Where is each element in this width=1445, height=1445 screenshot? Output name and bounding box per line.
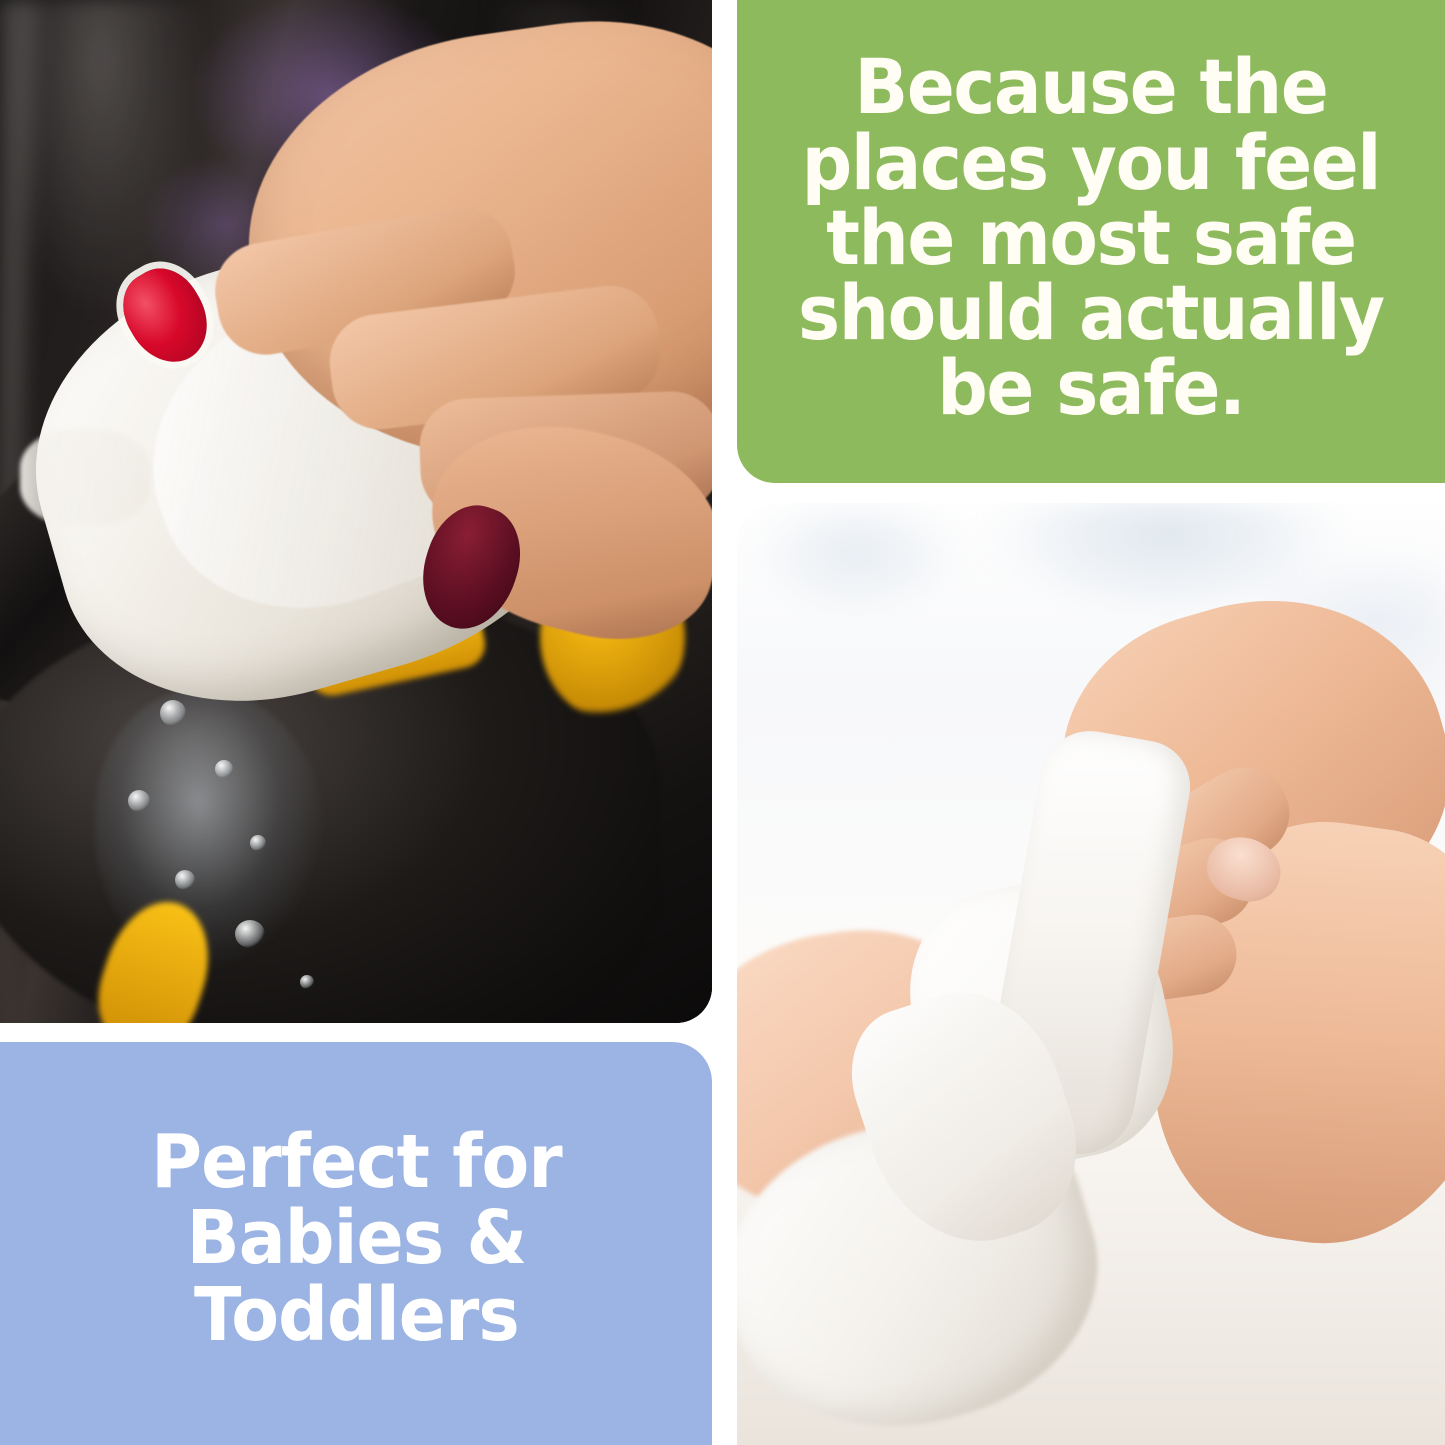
water-droplet	[128, 790, 150, 812]
cart-photo-scene	[0, 0, 712, 1023]
audience-line-3: Toddlers	[151, 1277, 562, 1353]
adult-wiping-baby-hand-photo	[737, 503, 1445, 1445]
water-droplet	[215, 760, 233, 778]
quote-line-4: should actually	[798, 275, 1384, 350]
hand-wiping-shopping-cart-handle-photo	[0, 0, 712, 1023]
green-quote-panel: Because the places you feel the most saf…	[737, 0, 1445, 483]
water-droplet	[235, 920, 265, 948]
baby-photo-scene	[737, 503, 1445, 1445]
audience-line-1: Perfect for	[151, 1124, 562, 1200]
quote-line-5: be safe.	[798, 350, 1384, 425]
water-droplet	[160, 700, 186, 726]
quote-headline: Because the places you feel the most saf…	[774, 49, 1408, 433]
blue-audience-panel: Perfect for Babies & Toddlers	[0, 1042, 712, 1445]
water-droplet	[300, 975, 314, 989]
water-droplet	[250, 835, 266, 851]
quote-line-3: the most safe	[798, 200, 1384, 275]
product-infographic-canvas: Because the places you feel the most saf…	[0, 0, 1445, 1445]
quote-line-1: Because the	[798, 49, 1384, 124]
white-wipe-frayed-edge	[20, 430, 150, 525]
audience-line-2: Babies &	[151, 1200, 562, 1276]
water-droplet	[175, 870, 195, 890]
quote-line-2: places you feel	[798, 125, 1384, 200]
audience-headline: Perfect for Babies & Toddlers	[113, 1124, 599, 1363]
